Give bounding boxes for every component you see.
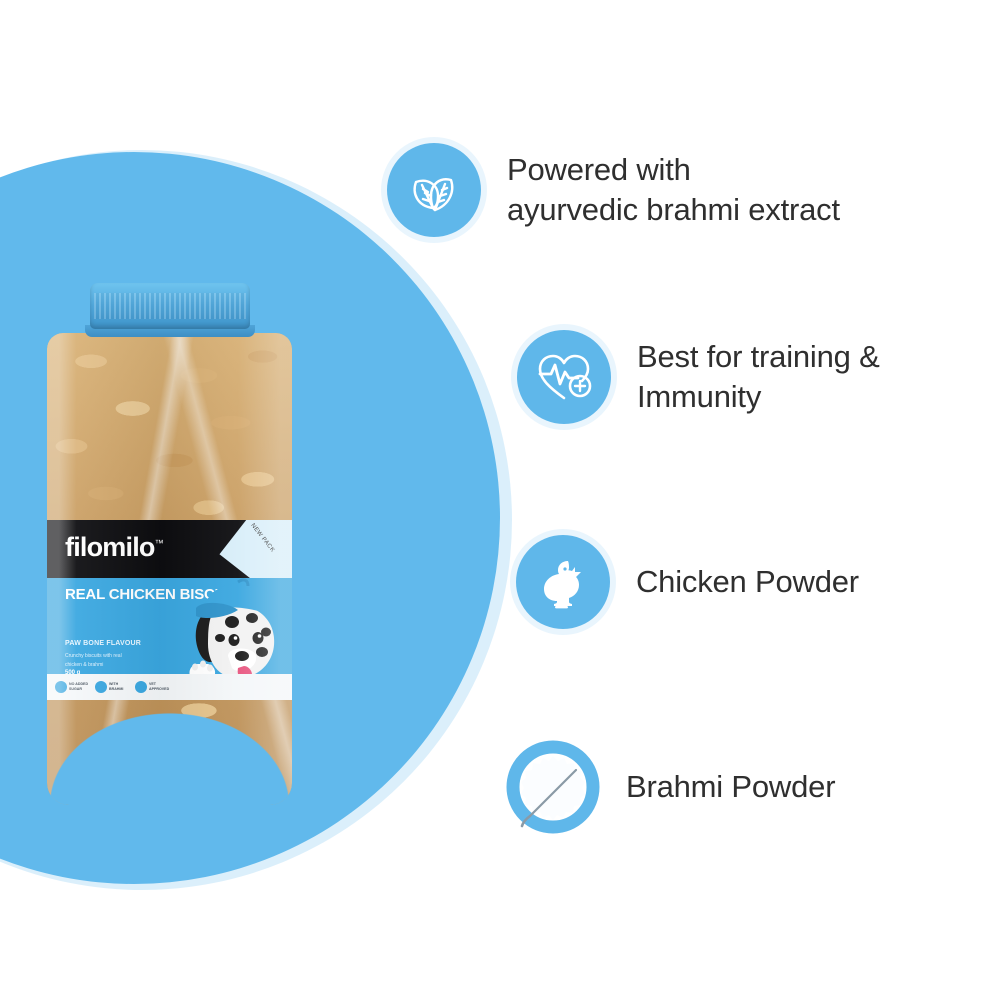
feature-item-chicken-powder: Chicken Powder	[516, 535, 859, 629]
feature-label: Powered with ayurvedic brahmi extract	[507, 150, 840, 229]
brahmi-leaf-icon	[506, 740, 600, 834]
feature-item-brahmi-extract: Powered with ayurvedic brahmi extract	[387, 143, 840, 237]
feature-item-brahmi-powder: Brahmi Powder	[506, 740, 835, 834]
feature-item-training-immunity: Best for training & Immunity	[517, 330, 880, 424]
feature-list: Powered with ayurvedic brahmi extract Be…	[0, 0, 1000, 1000]
chicken-icon	[516, 535, 610, 629]
leaf-pair-icon	[387, 143, 481, 237]
heart-pulse-plus-icon	[517, 330, 611, 424]
product-infographic: NEW PACK filomilo™ REAL CHICKEN BISCUITS…	[0, 0, 1000, 1000]
feature-label: Best for training & Immunity	[637, 337, 880, 416]
feature-label: Brahmi Powder	[626, 767, 835, 807]
feature-label: Chicken Powder	[636, 562, 859, 602]
